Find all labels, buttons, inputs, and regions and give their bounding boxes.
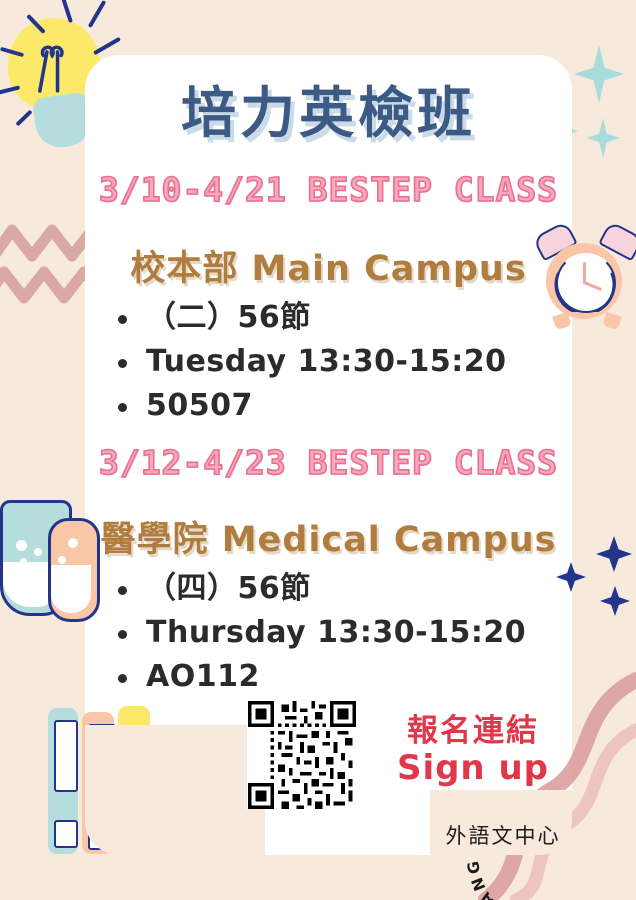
navy-plus-sparkle-icon [596, 536, 632, 572]
svg-text:FOREIGN LANGUAGE CENTER: FOREIGN LANGUAGE CENTER [455, 760, 612, 900]
list-item: AO112 [112, 655, 542, 699]
session-2-dates: 3/12-4/23 BESTEP CLASS [85, 443, 572, 482]
session-1-dates: 3/10-4/21 BESTEP CLASS [85, 170, 572, 209]
foreign-language-center-logo: FOREIGN LANGUAGE CENTER [455, 760, 636, 900]
session-2-campus: 醫學院 Medical Campus [85, 511, 572, 562]
list-item: 50507 [112, 384, 542, 428]
page-title: 培力英檢班 [85, 68, 572, 148]
card-corner-cut [85, 725, 265, 855]
poster-root: 培力英檢班 3/10-4/21 BESTEP CLASS 校本部 Main Ca… [0, 0, 636, 900]
list-item: Tuesday 13:30-15:20 [112, 340, 542, 384]
signup-qr-code[interactable] [247, 701, 357, 809]
zigzag-icon [0, 264, 96, 306]
session-2-details: （四）56節 Thursday 13:30-15:20 AO112 [112, 567, 542, 699]
sparkle-star-icon [574, 45, 624, 103]
logo-ring-text: FOREIGN LANGUAGE CENTER [455, 760, 612, 900]
list-item: （二）56節 [112, 296, 542, 340]
list-item: （四）56節 [112, 567, 542, 611]
session-1-details: （二）56節 Tuesday 13:30-15:20 50507 [112, 296, 542, 428]
session-1-campus: 校本部 Main Campus [85, 240, 572, 291]
sparkle-star-icon [586, 118, 620, 158]
list-item: Thursday 13:30-15:20 [112, 611, 542, 655]
navy-plus-sparkle-icon [600, 586, 630, 616]
signup-label-cn: 報名連結 [378, 705, 568, 750]
